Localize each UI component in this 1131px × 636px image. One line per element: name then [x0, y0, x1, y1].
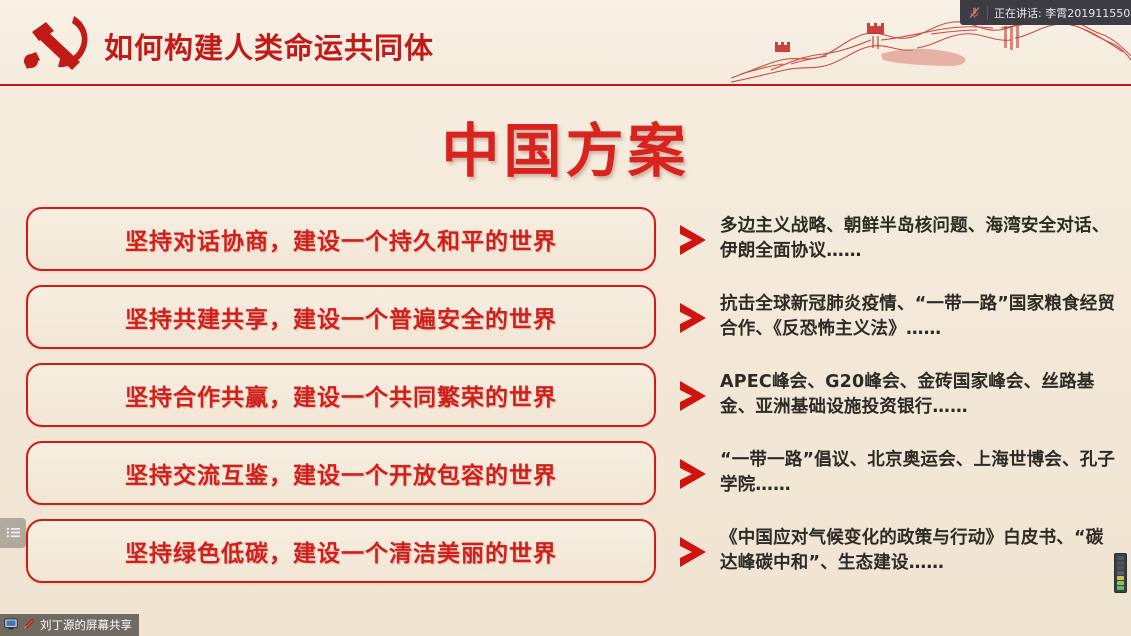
slogan-text: 坚持共建共享，建设一个普遍安全的世界: [125, 300, 557, 334]
detail-text: 多边主义战略、朝鲜半岛核问题、海湾安全对话、伊朗全面协议……: [720, 214, 1116, 264]
meter-segment: [1117, 571, 1124, 575]
speaker-status-text: 正在讲话: 李霄2019115504;: [994, 5, 1131, 21]
microphone-icon: [968, 6, 981, 19]
chevron-right-icon: [676, 377, 710, 415]
meter-segment: [1117, 586, 1124, 590]
presentation-slide: 如何构建人类命运共同体: [0, 0, 1131, 636]
content-row: 坚持合作共赢，建设一个共同繁荣的世界 APEC峰会、G20峰会、金砖国家峰会、丝…: [0, 356, 1131, 434]
content-row: 坚持绿色低碳，建设一个清洁美丽的世界 《中国应对气候变化的政策与行动》白皮书、“…: [0, 512, 1131, 590]
slogan-text: 坚持合作共赢，建设一个共同繁荣的世界: [125, 378, 557, 412]
meter-segment: [1117, 561, 1124, 565]
slogan-box-2[interactable]: 坚持共建共享，建设一个普遍安全的世界: [26, 285, 656, 349]
detail-item-4: “一带一路”倡议、北京奥运会、上海世博会、孔子学院……: [676, 437, 1116, 509]
panel-handle-button[interactable]: [0, 518, 26, 548]
slogan-box-5[interactable]: 坚持绿色低碳，建设一个清洁美丽的世界: [26, 519, 656, 583]
page-title: 中国方案: [0, 104, 1131, 188]
meter-segment: [1117, 566, 1124, 570]
slogan-box-1[interactable]: 坚持对话协商，建设一个持久和平的世界: [26, 207, 656, 271]
meter-segment: [1117, 581, 1124, 585]
slogan-text: 坚持对话协商，建设一个持久和平的世界: [125, 222, 557, 256]
pencil-icon: [22, 617, 36, 634]
slogan-box-4[interactable]: 坚持交流互鉴，建设一个开放包容的世界: [26, 441, 656, 505]
monitor-icon: [4, 617, 18, 634]
detail-text: 《中国应对气候变化的政策与行动》白皮书、“碳达峰碳中和”、生态建设……: [720, 526, 1116, 576]
meter-segment: [1117, 556, 1124, 560]
slogan-box-3[interactable]: 坚持合作共赢，建设一个共同繁荣的世界: [26, 363, 656, 427]
list-icon: [6, 524, 21, 543]
detail-item-3: APEC峰会、G20峰会、金砖国家峰会、丝路基金、亚洲基础设施投资银行……: [676, 359, 1116, 431]
chevron-right-icon: [676, 533, 710, 571]
detail-item-5: 《中国应对气候变化的政策与行动》白皮书、“碳达峰碳中和”、生态建设……: [676, 515, 1116, 587]
divider: [987, 6, 988, 20]
detail-text: APEC峰会、G20峰会、金砖国家峰会、丝路基金、亚洲基础设施投资银行……: [720, 370, 1116, 420]
slogan-text: 坚持绿色低碳，建设一个清洁美丽的世界: [125, 534, 557, 568]
detail-item-1: 多边主义战略、朝鲜半岛核问题、海湾安全对话、伊朗全面协议……: [676, 203, 1116, 275]
screen-share-label: 刘丁源的屏幕共享: [40, 617, 132, 633]
audio-level-meter[interactable]: [1114, 553, 1127, 593]
content-row: 坚持对话协商，建设一个持久和平的世界 多边主义战略、朝鲜半岛核问题、海湾安全对话…: [0, 200, 1131, 278]
slogan-text: 坚持交流互鉴，建设一个开放包容的世界: [125, 456, 557, 490]
header-title: 如何构建人类命运共同体: [104, 25, 434, 67]
detail-text: “一带一路”倡议、北京奥运会、上海世博会、孔子学院……: [720, 448, 1116, 498]
chevron-right-icon: [676, 299, 710, 337]
meter-segment: [1117, 576, 1124, 580]
detail-text: 抗击全球新冠肺炎疫情、“一带一路”国家粮食经贸合作、《反恐怖主义法》……: [720, 292, 1116, 342]
content-area: 坚持对话协商，建设一个持久和平的世界 多边主义战略、朝鲜半岛核问题、海湾安全对话…: [0, 200, 1131, 600]
chevron-right-icon: [676, 221, 710, 259]
hammer-and-sickle-emblem: [16, 10, 100, 82]
content-row: 坚持共建共享，建设一个普遍安全的世界 抗击全球新冠肺炎疫情、“一带一路”国家粮食…: [0, 278, 1131, 356]
detail-item-2: 抗击全球新冠肺炎疫情、“一带一路”国家粮食经贸合作、《反恐怖主义法》……: [676, 281, 1116, 353]
chevron-right-icon: [676, 455, 710, 493]
header-divider: [0, 84, 1131, 86]
screen-share-status-bar[interactable]: 刘丁源的屏幕共享: [0, 614, 139, 636]
active-speaker-bar[interactable]: 正在讲话: 李霄2019115504;: [960, 0, 1131, 25]
content-row: 坚持交流互鉴，建设一个开放包容的世界 “一带一路”倡议、北京奥运会、上海世博会、…: [0, 434, 1131, 512]
